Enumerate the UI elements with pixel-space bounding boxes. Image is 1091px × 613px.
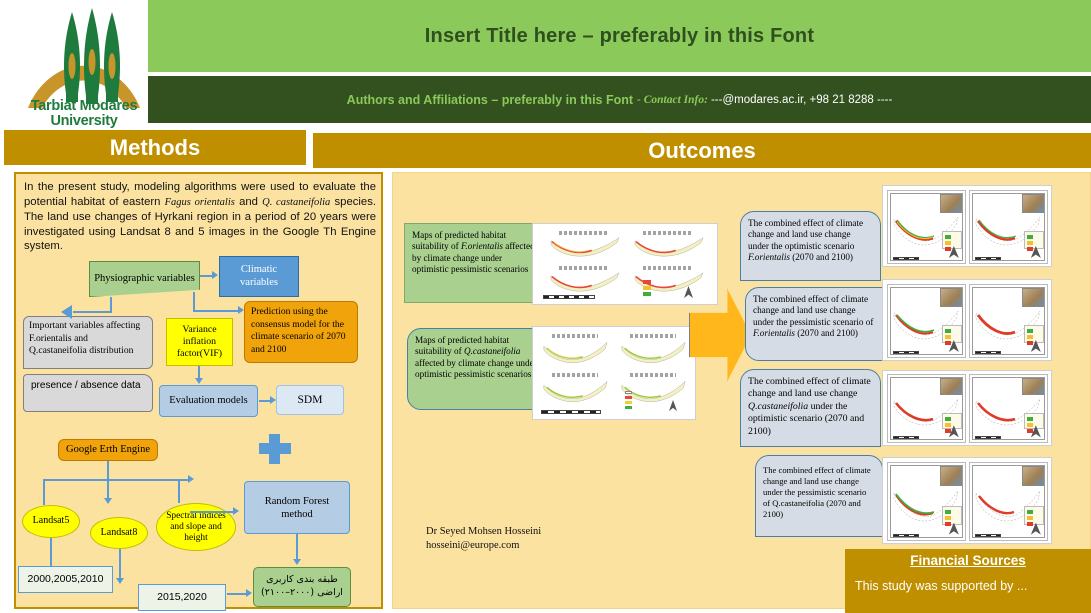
arrowhead-bus-right — [188, 475, 194, 483]
outcome-box-combined-optimistic-forientalis: The combined effect of climate change an… — [740, 211, 881, 281]
arrow-gee-bus — [43, 479, 191, 481]
authors-affiliations-bar: Authors and Affiliations – preferably in… — [148, 76, 1091, 123]
map-panel — [539, 332, 611, 370]
map-scale-bar — [975, 436, 1001, 439]
section-title-outcomes: Outcomes — [648, 138, 756, 164]
arrowhead-spectral-to-rf — [233, 507, 239, 515]
map-title-strip — [552, 334, 598, 338]
flow-node-landuse-classification: طبقه بندی کاربری اراضی (۲۰۰۰–۲۱۰۰) — [253, 567, 351, 607]
logo-line-2: University — [20, 114, 148, 129]
arrow-to-prediction — [193, 310, 239, 312]
blue1-text-2: (2070 and 2100) — [790, 252, 853, 262]
arrow-years-to-landuse — [227, 593, 247, 595]
blue3-text-1: The combined effect of climate change an… — [748, 376, 871, 399]
map-legend — [942, 506, 962, 524]
methods-panel: In the present study, modeling algorithm… — [14, 172, 383, 609]
map-scale-bar — [975, 534, 1001, 537]
arrow-bus-right-up — [178, 479, 180, 503]
map-legend — [942, 325, 962, 342]
species-fagus-orientalis: Fagus orientalis — [165, 197, 235, 208]
section-title-methods: Methods — [110, 135, 200, 161]
map-title-strip — [559, 231, 609, 235]
arrow-physio-to-important — [73, 311, 112, 313]
flow-node-google-earth-engine: Google Erth Engine — [58, 439, 158, 461]
map-scale-bar — [975, 351, 1001, 354]
blue2-text-1: The combined effect of climate change an… — [753, 294, 873, 327]
map-panel — [629, 229, 707, 262]
map-panel — [617, 332, 689, 370]
figure-habitat-maps-qcastaneifolia — [532, 326, 696, 420]
landuse-line-2: اراضی (۲۰۰۰–۲۱۰۰) — [257, 586, 347, 599]
flow-node-years-2000-2005-2010: 2000,2005,2010 — [18, 566, 113, 593]
page-title: Insert Title here – preferably in this F… — [425, 25, 814, 48]
map-panel — [887, 190, 966, 264]
map-panel — [887, 284, 966, 358]
green2-text-2: affected by climate change under optimis… — [415, 358, 537, 379]
arrow-physio-right-stem — [193, 292, 195, 312]
map-scale-bar — [893, 436, 919, 439]
financial-sources-title: Financial Sources — [845, 553, 1091, 568]
map-panel — [969, 190, 1048, 264]
map-legend — [643, 280, 667, 300]
map-panel — [969, 284, 1048, 358]
map-scale-bar — [975, 257, 1001, 260]
flow-node-physiographic-variables: Physiographic variables — [89, 261, 200, 297]
arrowhead-landsat8-down — [116, 578, 124, 584]
map-panel — [545, 264, 623, 297]
map-scale-bar — [893, 534, 919, 537]
map-panel — [887, 462, 966, 541]
section-header-outcomes: Outcomes — [313, 133, 1091, 168]
blue2-text-2: (2070 and 2100) — [795, 328, 858, 338]
poster-canvas: Tarbiat Modares University Insert Title … — [0, 0, 1091, 613]
logo-line-1: Tarbiat Modares — [20, 99, 148, 114]
figure-combined-maps-4 — [882, 457, 1052, 544]
arrow-gee-down — [107, 461, 109, 501]
green1-species: F.orientalis — [461, 241, 503, 251]
flow-node-landsat8: Landsat8 — [90, 517, 148, 549]
presenter-email[interactable]: hosseini@europe.com — [426, 539, 541, 553]
flow-node-presence-absence: presence / absence data — [23, 374, 153, 412]
intro-part-2: and — [235, 196, 262, 208]
map-panel — [629, 264, 707, 297]
blue2-species: F.orientalis — [753, 328, 795, 338]
flow-node-random-forest: Random Forest method — [244, 481, 350, 534]
map-legend — [625, 391, 665, 415]
arrowhead-to-evaluation — [195, 378, 203, 384]
presenter-contact: Dr Seyed Mohsen Hosseini hosseini@europe… — [426, 525, 541, 553]
presenter-name: Dr Seyed Mohsen Hosseini — [426, 525, 541, 539]
map-legend — [942, 231, 962, 248]
arrow-bus-left-drop — [43, 479, 45, 505]
methods-intro-text: In the present study, modeling algorithm… — [24, 180, 376, 254]
map-legend — [1024, 231, 1044, 248]
map-legend — [1024, 325, 1044, 342]
financial-sources-text: This study was supported by ... — [855, 579, 1027, 593]
flow-node-vif: Variance inflation factor(VIF) — [166, 318, 233, 366]
green2-species: Q.castaneifolia — [464, 346, 520, 356]
blue1-species: F.orientalis — [748, 252, 790, 262]
arrowhead-years-to-landuse — [246, 589, 252, 597]
map-title-strip — [630, 373, 676, 377]
blue3-species: Q.castaneifolia — [748, 401, 808, 412]
map-title-strip — [643, 266, 693, 270]
arrowhead-to-climatic — [212, 271, 218, 279]
landuse-line-1: طبقه بندی کاربری — [257, 573, 347, 586]
financial-sources-bar: Financial Sources This study was support… — [845, 549, 1091, 613]
figure-combined-maps-2 — [882, 279, 1052, 361]
outcome-box-combined-optimistic-qcastaneifolia: The combined effect of climate change an… — [740, 369, 881, 447]
map-scale-bar — [541, 410, 601, 414]
map-panel — [545, 229, 623, 262]
flow-node-landsat5: Landsat5 — [22, 505, 80, 538]
map-panel — [887, 374, 966, 443]
flow-node-important-variables: Important variables affecting F.oriental… — [23, 316, 153, 369]
flow-node-years-2015-2020: 2015,2020 — [138, 584, 226, 611]
arrow-landsat8-down — [119, 549, 121, 581]
map-scale-bar — [893, 351, 919, 354]
university-logo: Tarbiat Modares University — [20, 4, 148, 130]
blue1-text-1: The combined effect of climate change an… — [748, 218, 863, 251]
contact-info-label: - Contact Info: — [637, 94, 708, 106]
section-header-methods: Methods — [4, 130, 306, 165]
arrow-rf-down — [296, 534, 298, 562]
map-panel — [969, 374, 1048, 443]
map-legend — [1024, 506, 1044, 524]
species-q-castaneifolia: Q. castaneifolia — [262, 197, 330, 208]
outcome-box-maps-qcastaneifolia: Maps of predicted habitat suitability of… — [407, 328, 550, 410]
plus-combination-icon — [259, 434, 291, 464]
map-title-strip — [559, 266, 609, 270]
outcome-box-maps-forientalis: Maps of predicted habitat suitability of… — [404, 223, 547, 303]
contact-info-value: ---@modares.ac.ir, +98 21 8288 ---- — [711, 94, 892, 106]
figure-combined-maps-1 — [882, 185, 1052, 267]
map-panel — [539, 371, 611, 409]
arrowhead-to-important-vars — [61, 305, 72, 319]
arrowhead-rf-down — [293, 559, 301, 565]
map-scale-bar — [543, 295, 595, 299]
figure-habitat-maps-forientalis — [532, 223, 718, 305]
map-legend — [1024, 413, 1044, 429]
authors-label: Authors and Affiliations – preferably in… — [347, 93, 633, 107]
outcomes-panel: Maps of predicted habitat suitability of… — [392, 172, 1091, 609]
map-title-strip — [552, 373, 598, 377]
flow-node-prediction-consensus-model: Prediction using the consensus model for… — [244, 301, 358, 363]
map-title-strip — [643, 231, 693, 235]
poster-title-bar: Insert Title here – preferably in this F… — [148, 0, 1091, 72]
arrowhead-gee-down — [104, 498, 112, 504]
flow-node-sdm: SDM — [276, 385, 344, 415]
map-panel — [969, 462, 1048, 541]
map-scale-bar — [893, 257, 919, 260]
figure-combined-maps-3 — [882, 370, 1052, 446]
logo-wordmark: Tarbiat Modares University — [20, 99, 148, 128]
blue4-text: The combined effect of climate change an… — [763, 465, 871, 519]
arrow-landsat5-down — [50, 538, 52, 568]
map-title-strip — [630, 334, 676, 338]
arrow-spectral-to-rf — [190, 511, 234, 513]
map-legend — [942, 413, 962, 429]
flow-node-climatic-variables: Climatic variables — [219, 256, 299, 297]
flow-node-evaluation-models: Evaluation models — [159, 385, 258, 417]
outcome-box-combined-pessimistic-forientalis: The combined effect of climate change an… — [745, 287, 886, 361]
outcome-box-combined-pessimistic-qcastaneifolia: The combined effect of climate change an… — [755, 455, 883, 537]
